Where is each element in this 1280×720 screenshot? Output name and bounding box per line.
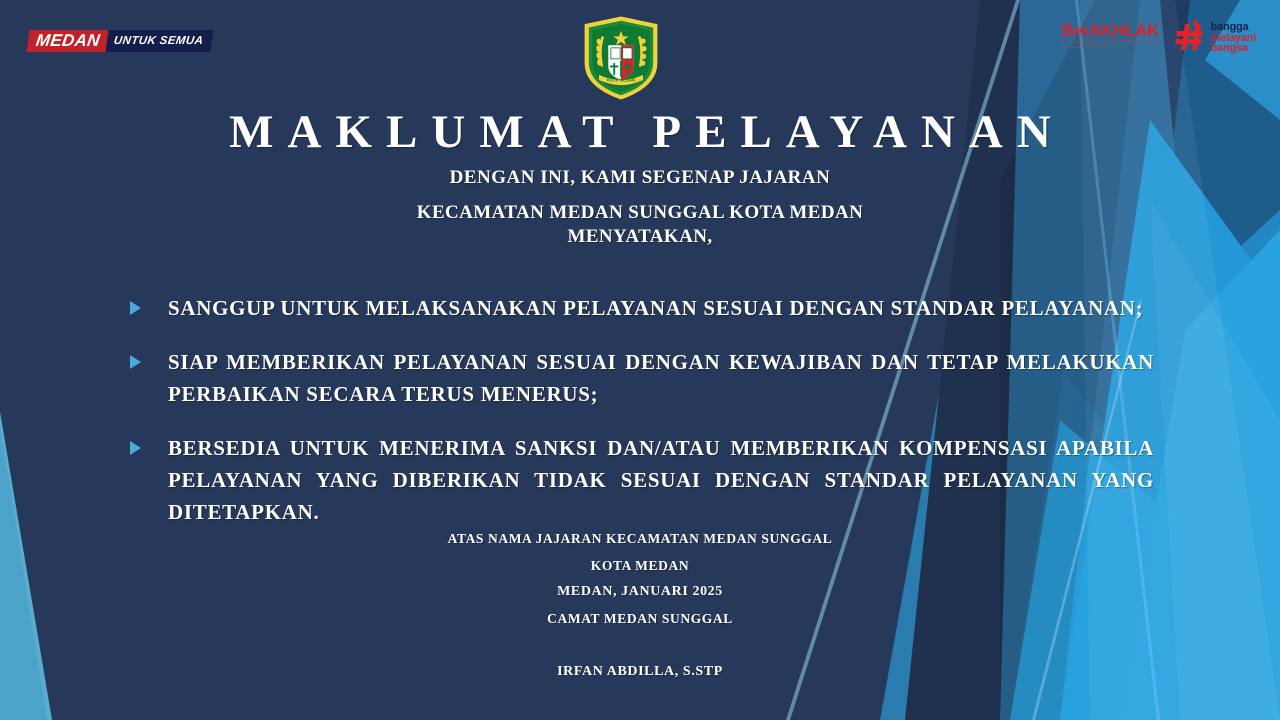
signature-position: CAMAT MEDAN SUNGGAL: [0, 611, 1280, 627]
pledge-text: SIAP MEMBERIKAN PELAYANAN SESUAI DENGAN …: [168, 346, 1154, 410]
list-item: SANGGUP UNTUK MELAKSANAKAN PELAYANAN SES…: [128, 292, 1154, 324]
signature-date: MEDAN, JANUARI 2025: [0, 584, 1280, 600]
pledge-list: SANGGUP UNTUK MELAKSANAKAN PELAYANAN SES…: [128, 292, 1154, 550]
hashtag-icon: [1173, 20, 1207, 54]
berakhlak-subtitle: Berorientasi Pelayanan, Akuntabel, Kompe…: [1062, 40, 1170, 50]
signature-line-1: ATAS NAMA JAJARAN KECAMATAN MEDAN SUNGGA…: [0, 531, 1280, 547]
list-item: BERSEDIA UNTUK MENERIMA SANKSI DAN/ATAU …: [128, 432, 1154, 528]
triangle-bullet-icon: [130, 441, 141, 455]
pledge-text: BERSEDIA UNTUK MENERIMA SANKSI DAN/ATAU …: [168, 432, 1154, 528]
triangle-bullet-icon: [130, 355, 141, 369]
logo-berakhlak: BerAKHLAK Berorientasi Pelayanan, Akunta…: [1062, 18, 1256, 54]
subtitle-line-2: KECAMATAN MEDAN SUNGGAL KOTA MEDAN: [0, 202, 1280, 224]
logo-medan-wordmark: MEDAN: [26, 30, 108, 52]
subtitle-line-3: MENYATAKAN,: [0, 226, 1280, 248]
signature-name: IRFAN ABDILLA, S.STP: [0, 664, 1280, 680]
berakhlak-tagline-1: bangga: [1211, 22, 1256, 33]
kota-medan-emblem-icon: KOTA MEDAN: [578, 14, 664, 102]
page-title: MAKLUMAT PELAYANAN: [0, 104, 1280, 160]
triangle-bullet-icon: [130, 301, 141, 315]
berakhlak-wordmark: BerAKHLAK: [1062, 22, 1170, 40]
emblem-caption: KOTA MEDAN: [607, 77, 635, 82]
slide-content: MAKLUMAT PELAYANAN DENGAN INI, KAMI SEGE…: [0, 0, 1280, 720]
list-item: SIAP MEMBERIKAN PELAYANAN SESUAI DENGAN …: [128, 346, 1154, 410]
logo-medan-tagline: UNTUK SEMUA: [105, 30, 213, 52]
berakhlak-tagline-3: bangsa: [1211, 43, 1256, 54]
logo-medan-untuk-semua: MEDAN UNTUK SEMUA: [26, 30, 213, 52]
slide-canvas: MEDAN UNTUK SEMUA: [0, 0, 1280, 720]
subtitle-line-1: DENGAN INI, KAMI SEGENAP JAJARAN: [0, 167, 1280, 189]
signature-line-2: KOTA MEDAN: [0, 558, 1280, 574]
pledge-text: SANGGUP UNTUK MELAKSANAKAN PELAYANAN SES…: [168, 292, 1154, 324]
